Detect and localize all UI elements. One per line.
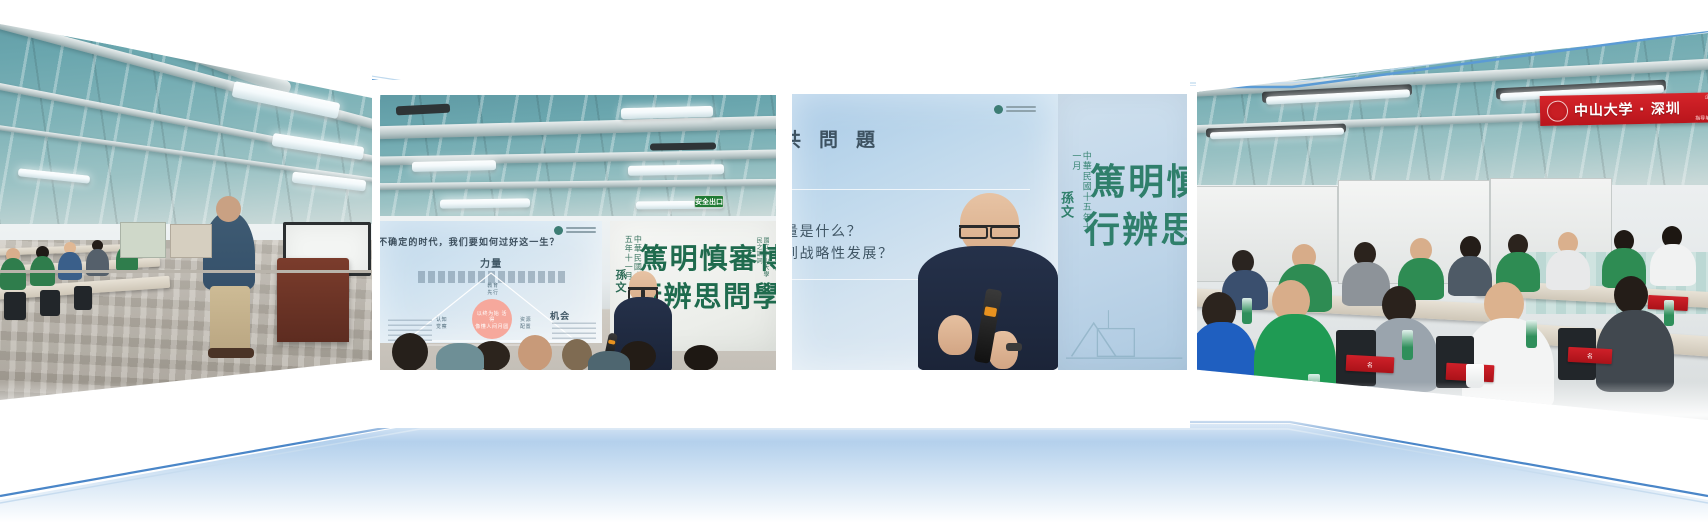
attendee-body xyxy=(1448,256,1492,296)
attendee-body xyxy=(1650,244,1696,286)
audience-head xyxy=(684,345,718,370)
attendee-body xyxy=(1546,250,1590,290)
brand-mark-icon xyxy=(994,105,1003,114)
slide-heading: 共 問 題 xyxy=(790,125,881,152)
slide-heading: 在不确定的时代，我们要如何过好这一生？ xyxy=(378,235,560,248)
speaker-head xyxy=(960,193,1019,254)
chair xyxy=(74,286,92,310)
ceiling-light xyxy=(628,164,724,176)
slide-brand-logo xyxy=(994,105,1036,114)
slide-label-resource: 资源配置 xyxy=(520,317,542,330)
water-bottle xyxy=(1402,330,1413,360)
water-bottle xyxy=(1526,320,1537,348)
photo-center-scene: 共 問 題 ? 量是什么？ 到战略性发展？ 中華民國十五年十一月 孫文 篤明慎審… xyxy=(790,93,1188,371)
attendee-body xyxy=(1254,314,1336,400)
water-bottle xyxy=(1308,374,1320,406)
audience-head xyxy=(392,333,428,370)
calligraphy-line-2: 行辨思問學 xyxy=(1084,201,1188,253)
glasses-icon xyxy=(628,287,658,296)
wall-stripe xyxy=(0,270,372,273)
wristwatch-icon xyxy=(1006,343,1022,351)
gallery-slide-left[interactable] xyxy=(0,0,372,400)
brand-wordmark xyxy=(1006,106,1036,114)
audience-shoulder xyxy=(588,351,630,370)
slide-line-1: 量是什么？ xyxy=(790,221,862,241)
photo-gap-right xyxy=(1187,86,1197,378)
paper-cup xyxy=(1466,364,1484,388)
gallery-stage: 安全出口 在不确定的时代，我们要如何过好这一生？ 力量 以终为始 活得像懂人间 xyxy=(0,0,1708,523)
slide-label-education: 教育先行 xyxy=(480,283,506,296)
slide-divider xyxy=(790,189,1030,190)
attendee-head xyxy=(1614,276,1648,314)
exit-sign: 安全出口 xyxy=(694,195,724,208)
brand-mark-icon xyxy=(554,226,563,235)
floor-panel xyxy=(0,424,1708,523)
slide-brand-logo xyxy=(554,226,596,235)
gallery-slide-right[interactable]: 中山大学 · 深圳 企业家培训 指导单位：深圳 xyxy=(1196,0,1708,420)
attendee-body xyxy=(1196,322,1256,392)
calligraphy-seal: 孫文 xyxy=(1056,191,1075,237)
brand-wordmark xyxy=(566,227,596,235)
gallery-slide-center[interactable]: 共 問 題 ? 量是什么？ 到战略性发展？ 中華民國十五年十一月 孫文 篤明慎審… xyxy=(790,93,1188,371)
ceiling-light xyxy=(440,198,530,208)
university-crest-icon xyxy=(1547,100,1568,121)
bottom-bezel xyxy=(0,400,1708,492)
light-fixture-housing xyxy=(650,142,716,150)
name-card: 名 xyxy=(1209,380,1266,402)
name-card: 名 xyxy=(1568,347,1613,364)
slide-footnote-right xyxy=(552,319,596,339)
chair xyxy=(4,292,26,320)
audience-head xyxy=(518,335,552,370)
audience-shoulder xyxy=(436,343,484,370)
wall-poster xyxy=(170,224,212,258)
projection-screen: 在不确定的时代，我们要如何过好这一生？ 力量 以终为始 活得像懂人间月圆 机会 … xyxy=(380,221,602,343)
instructor-legs xyxy=(210,286,250,354)
flat-photo-top-mask xyxy=(372,80,1190,94)
slide-line-2: 到战略性发展？ xyxy=(790,243,894,263)
instructor-head xyxy=(216,196,241,222)
photo-left-scene xyxy=(0,0,372,400)
photo-mid-left-scene: 安全出口 在不确定的时代，我们要如何过好这一生？ 力量 以终为始 活得像懂人间 xyxy=(378,95,776,370)
wall-poster xyxy=(120,222,166,258)
bottom-accent-line xyxy=(0,422,1708,496)
campus-watermark xyxy=(1066,281,1186,367)
photo-right-scene: 中山大学 · 深圳 企业家培训 指导单位：深圳 xyxy=(1196,0,1708,420)
banner-text: 中山大学 · 深圳 xyxy=(1574,98,1681,120)
slide-circle-label: 以终为始 活得像懂人间月圆 xyxy=(475,311,509,330)
exit-sign-label: 安全出口 xyxy=(695,197,723,207)
chair xyxy=(40,290,60,316)
ceiling-light xyxy=(412,160,496,172)
red-banner: 中山大学 · 深圳 企业家培训 指导单位：深圳 xyxy=(1540,92,1708,126)
calligraphy-board: 中華民國十五年十一月 孫文 篤明慎審博 行辨思問學 xyxy=(1058,93,1188,371)
water-bottle xyxy=(1242,298,1252,324)
calligraphy-caption: 國立中山大學民之訓詞 xyxy=(754,237,768,283)
banner-subtext-bottom: 指导单位：深圳 xyxy=(1695,114,1708,122)
attendee-body xyxy=(58,252,82,280)
water-bottle xyxy=(1664,300,1674,326)
gallery-slide-mid-left[interactable]: 安全出口 在不确定的时代，我们要如何过好这一生？ 力量 以终为始 活得像懂人间 xyxy=(378,95,776,370)
bottom-accent-line-soft xyxy=(0,429,1708,503)
attendee-body xyxy=(0,258,26,290)
name-card: 名 xyxy=(1346,355,1395,373)
calligraphy-line-1: 篤明慎審博 xyxy=(1090,153,1188,205)
glasses-icon xyxy=(959,225,1021,238)
instructor-shoes xyxy=(208,348,254,358)
speaker-hand xyxy=(938,315,972,355)
slide-line-0: ? xyxy=(790,201,792,216)
flat-photo-bottom-mask xyxy=(372,370,1190,428)
slide-label-awareness: 认知觉察 xyxy=(436,317,458,330)
